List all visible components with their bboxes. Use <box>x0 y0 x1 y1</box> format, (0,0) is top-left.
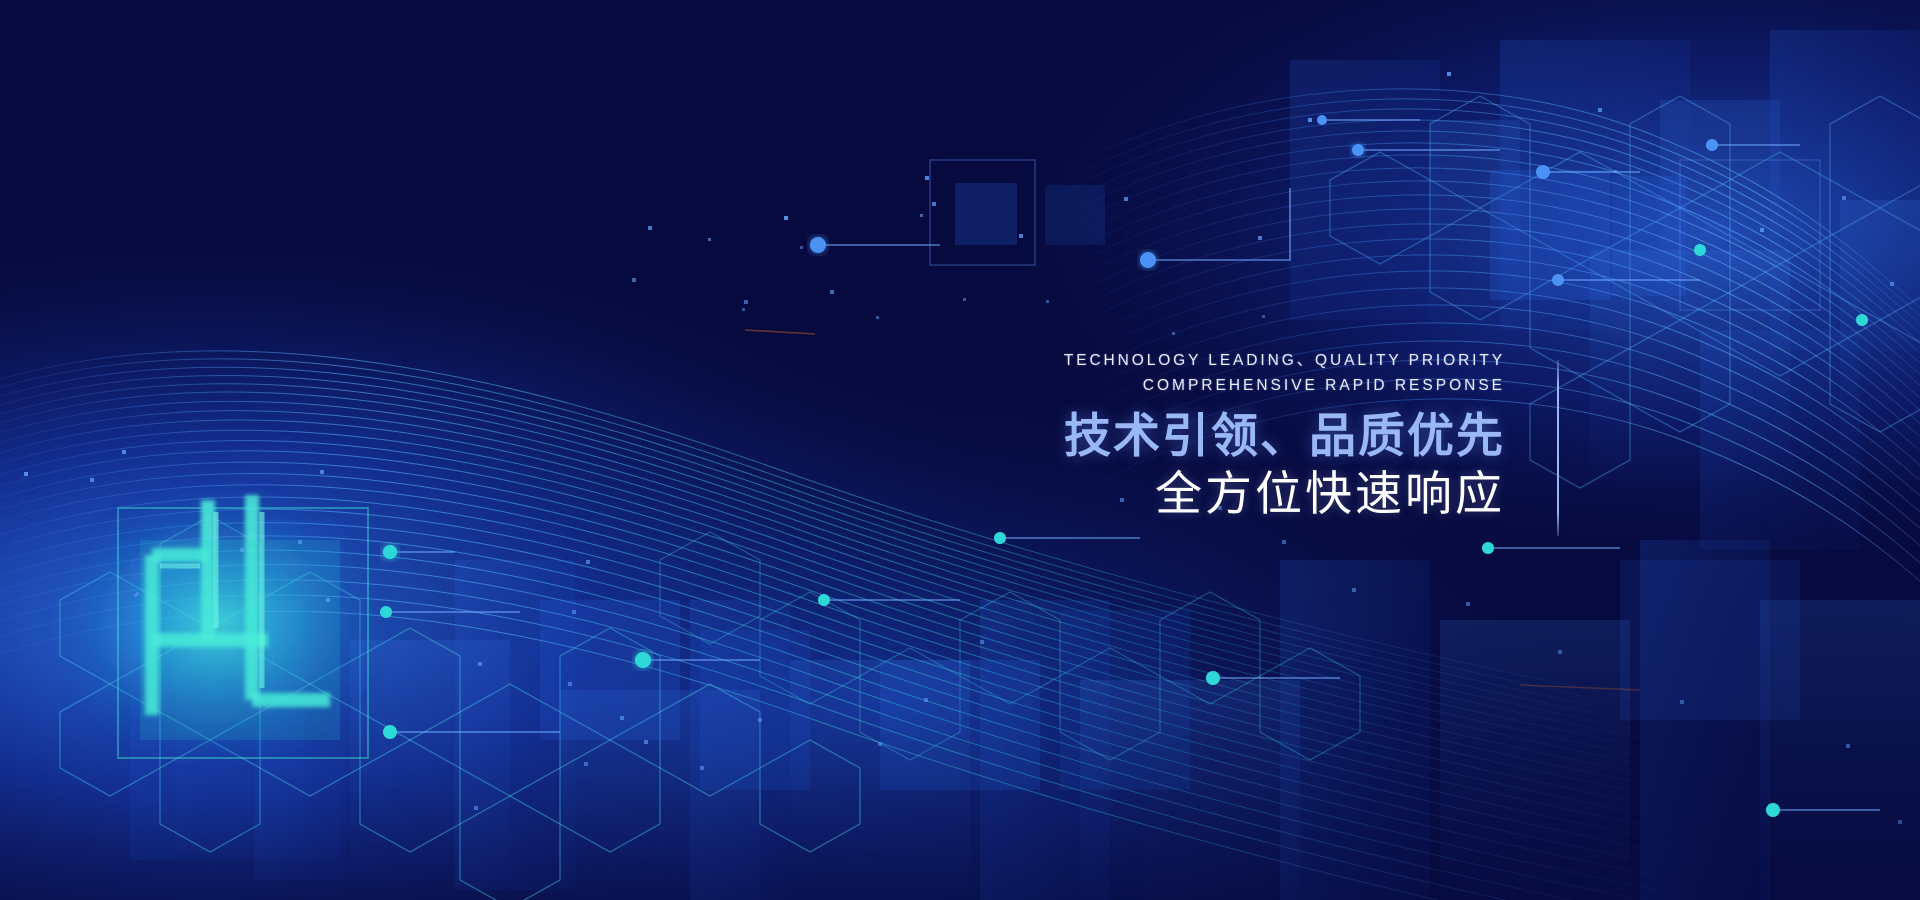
hero-headline-line-2: 全方位快速响应 <box>880 465 1505 523</box>
hero-text-block: TECHNOLOGY LEADING、QUALITY PRIORITY COMP… <box>880 348 1505 523</box>
hero-english-line-2: COMPREHENSIVE RAPID RESPONSE <box>880 373 1505 398</box>
hero-vertical-divider <box>1557 360 1559 536</box>
hero-english-line-1: TECHNOLOGY LEADING、QUALITY PRIORITY <box>880 348 1505 373</box>
circuit-board-glow <box>43 475 393 775</box>
hero-banner: TECHNOLOGY LEADING、QUALITY PRIORITY COMP… <box>0 0 1920 900</box>
hero-headline-line-1: 技术引领、品质优先 <box>880 407 1505 465</box>
